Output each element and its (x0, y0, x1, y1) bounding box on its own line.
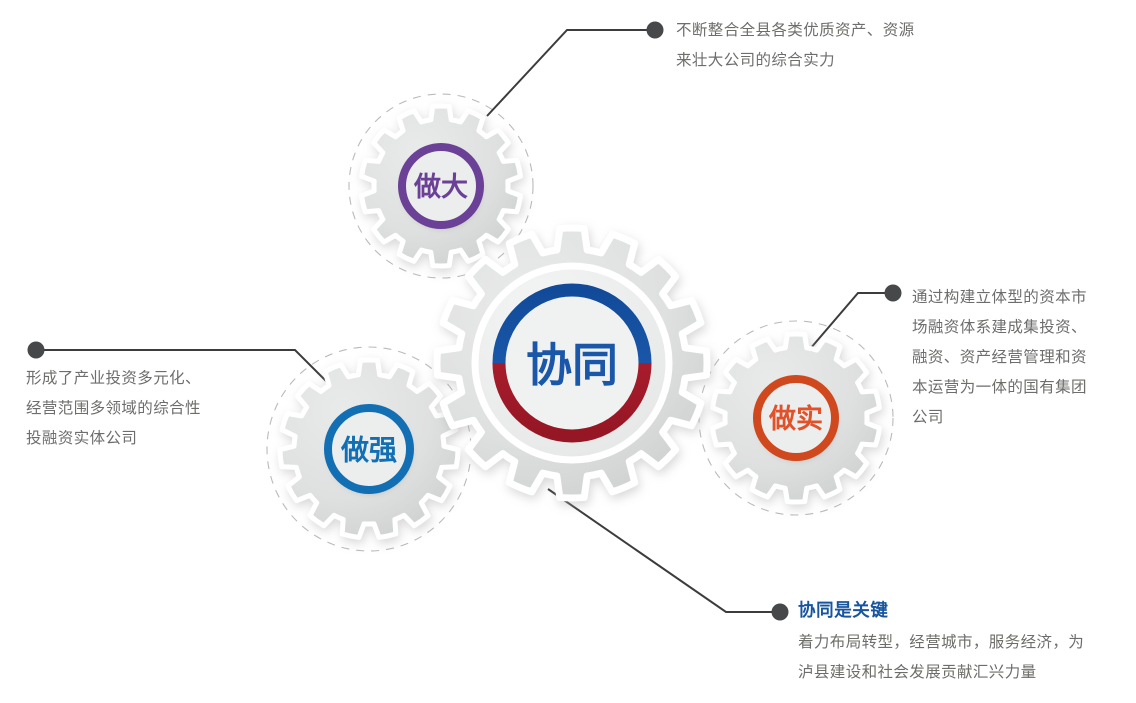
gear-label-center: 协同 (526, 339, 618, 391)
gear-zuoda-ring: 做大 (401, 146, 481, 226)
connector-dot-right (885, 285, 902, 302)
gear-center-ring: 协同 (499, 290, 645, 436)
connector-top (487, 22, 664, 117)
connector-dot-top (647, 22, 664, 39)
callout-top-text: 不断整合全县各类优质资产、资源 来壮大公司的综合实力 (676, 16, 996, 76)
gear-label-zuoshi: 做实 (768, 403, 823, 434)
connector-dot-bottom (772, 604, 789, 621)
callout-bottom-text: 着力布局转型，经营城市，服务经济，为 泸县建设和社会发展贡献汇兴力量 (798, 628, 1098, 688)
callout-right-text: 通过构建立体型的资本市 场融资体系建成集投资、 融资、资产经营管理和资 本运营为… (912, 283, 1136, 433)
gear-label-zuoda: 做大 (413, 172, 468, 202)
connector-dot-left (28, 342, 45, 359)
gear-label-zuoqiang: 做强 (340, 435, 397, 466)
gear-zuoqiang-ring: 做强 (327, 407, 411, 491)
callout-bottom-title: 协同是关键 (798, 598, 1098, 622)
diagram-canvas: 做大 做强 做实 协同 (0, 0, 1136, 703)
connector-bottom (548, 489, 789, 621)
gear-zuoshi-ring: 做实 (756, 378, 836, 458)
callout-left-text: 形成了产业投资多元化、 经营范围多领域的综合性 投融资实体公司 (26, 364, 276, 454)
